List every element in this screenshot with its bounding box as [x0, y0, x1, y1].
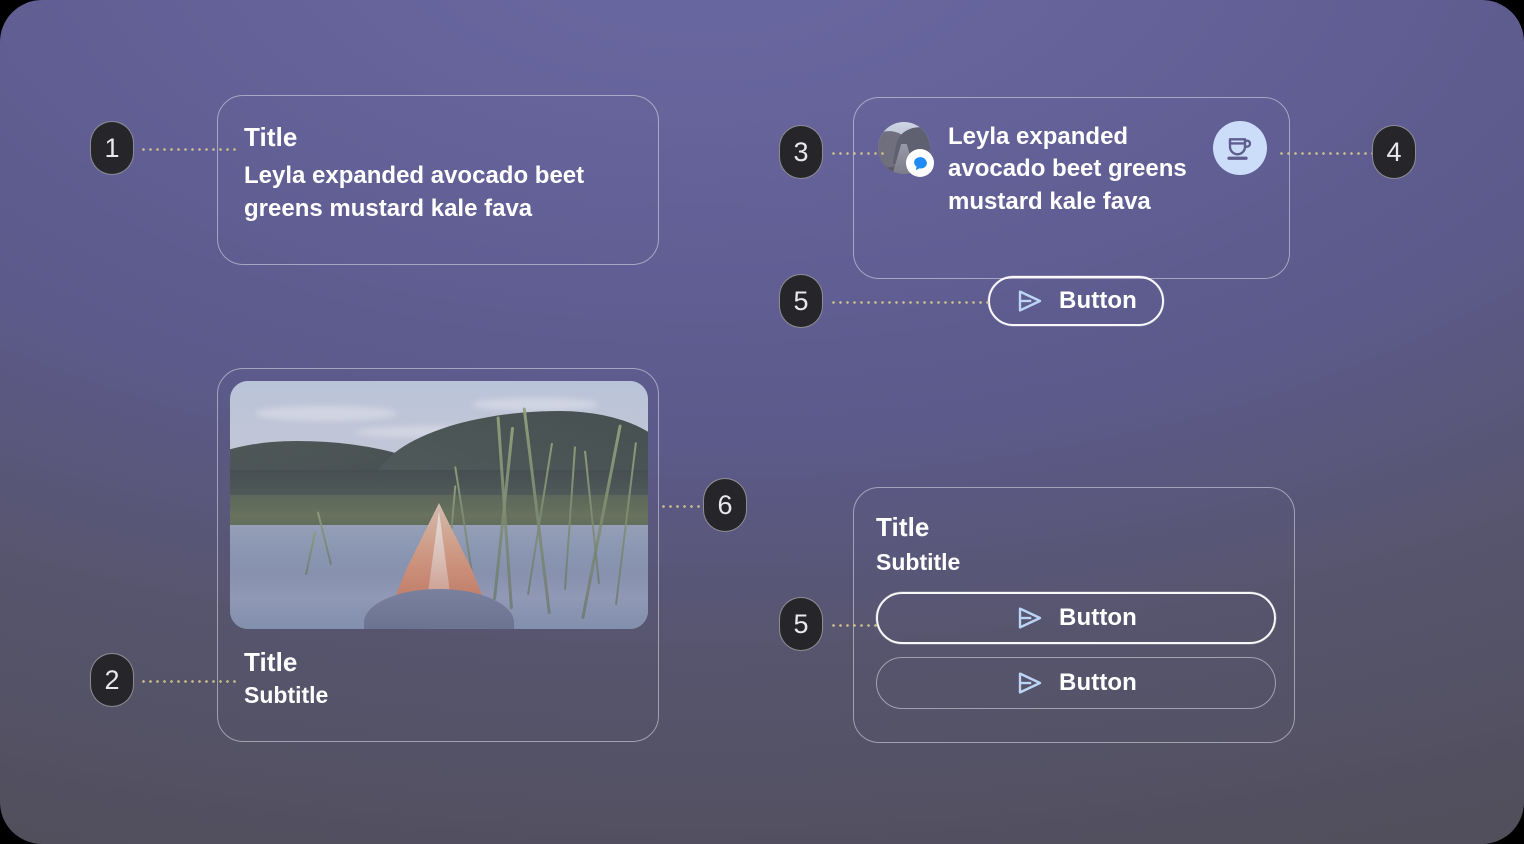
callout-6[interactable]: 6: [703, 478, 747, 532]
kayak-shape: [369, 503, 509, 629]
card-body: Leyla expanded avocado beet greens musta…: [244, 159, 628, 225]
send-button-primary[interactable]: Button: [876, 592, 1276, 644]
send-button-top-label: Button: [1059, 287, 1137, 315]
send-button-primary-label: Button: [1059, 604, 1137, 632]
connector-4: [1278, 152, 1373, 155]
connector-3: [830, 152, 885, 155]
connector-5a: [830, 301, 992, 304]
callout-5-top[interactable]: 5: [779, 274, 823, 328]
send-icon: [1015, 603, 1045, 633]
connector-6: [660, 505, 705, 508]
media-card[interactable]: Title Subtitle: [217, 368, 659, 742]
coffee-cup-icon[interactable]: [1213, 121, 1267, 175]
canvas: Title Leyla expanded avocado beet greens…: [0, 0, 1524, 844]
avatar-card-text: Leyla expanded avocado beet greens musta…: [948, 120, 1195, 218]
callout-3[interactable]: 3: [779, 125, 823, 179]
connector-5b: [830, 624, 880, 627]
kayak-lake-photo: [230, 381, 648, 629]
send-icon: [1015, 668, 1045, 698]
callout-2[interactable]: 2: [90, 653, 134, 707]
actions-card-subtitle: Subtitle: [876, 549, 1274, 576]
send-button-top[interactable]: Button: [988, 276, 1164, 326]
callout-4[interactable]: 4: [1372, 125, 1416, 179]
actions-card[interactable]: Title Subtitle Button Button: [853, 487, 1295, 743]
chat-bubble-icon: [906, 149, 934, 177]
send-icon: [1015, 286, 1045, 316]
connector-2: [140, 680, 240, 683]
connector-1: [140, 148, 240, 151]
media-card-title: Title: [244, 647, 646, 678]
avatar: [878, 122, 930, 174]
card-title: Title: [244, 122, 628, 153]
avatar-card[interactable]: Leyla expanded avocado beet greens musta…: [853, 97, 1290, 279]
send-button-secondary[interactable]: Button: [876, 657, 1276, 709]
callout-5-bottom[interactable]: 5: [779, 597, 823, 651]
text-card[interactable]: Title Leyla expanded avocado beet greens…: [217, 95, 659, 265]
media-card-subtitle: Subtitle: [244, 682, 646, 709]
send-button-secondary-label: Button: [1059, 669, 1137, 697]
callout-1[interactable]: 1: [90, 121, 134, 175]
actions-card-title: Title: [876, 512, 1274, 543]
